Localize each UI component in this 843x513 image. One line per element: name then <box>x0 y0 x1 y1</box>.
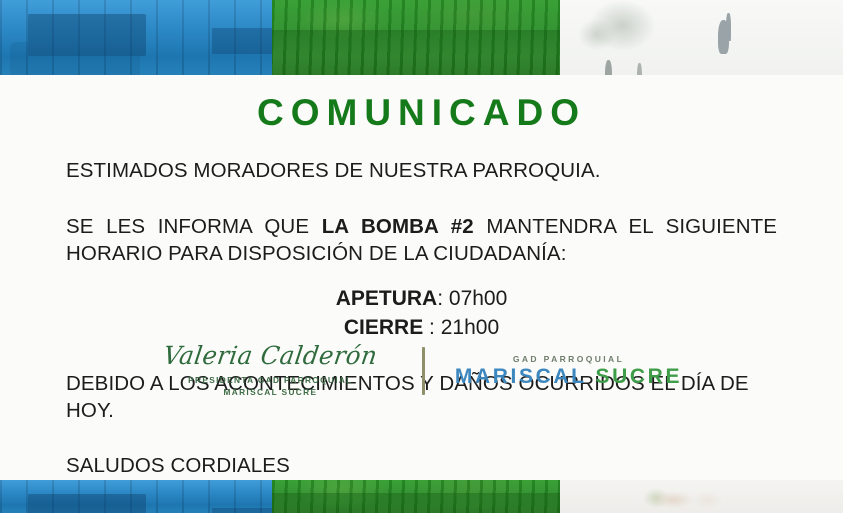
greeting-text: ESTIMADOS MORADORES DE NUESTRA PARROQUIA… <box>66 157 777 184</box>
announcement-text-line2: HORARIO PARA DISPOSICIÓN DE LA CIUDADANÍ… <box>66 240 777 267</box>
signature-row: Valeria Calderón PRESIDENTA GAD PARROQUI… <box>66 343 777 398</box>
closing-label: CIERRE <box>344 316 423 339</box>
opening-time: 07h00 <box>449 287 507 310</box>
signature-block: Valeria Calderón PRESIDENTA GAD PARROQUI… <box>153 343 388 398</box>
header-band-green-photo <box>272 0 560 75</box>
announcement-text-after: MANTENDRA EL SIGUIENTE <box>474 215 777 238</box>
header-band-landscape-photo <box>560 0 843 75</box>
comunicado-poster: COMUNICADO ESTIMADOS MORADORES DE NUESTR… <box>0 0 843 513</box>
logo-word-sucre: SUCRE <box>596 365 683 388</box>
closing-time: 21h00 <box>441 316 499 339</box>
schedule-row-closing: CIERRE : 21h00 <box>66 313 777 343</box>
footer-band-landscape-photo <box>560 480 843 513</box>
signature-role-line2: MARISCAL SUCRE <box>153 386 388 398</box>
header-band-blue-photo <box>0 0 272 75</box>
footer-band-green-photo <box>272 480 560 513</box>
poster-content: COMUNICADO ESTIMADOS MORADORES DE NUESTR… <box>0 75 843 480</box>
logo-word-mariscal: MARISCAL <box>455 365 587 388</box>
gad-logo: GAD PARROQUIAL MARISCALSUCRE <box>451 354 682 387</box>
schedule-list: APETURA: 07h00 CIERRE : 21h00 <box>66 284 777 344</box>
signature-role: PRESIDENTA GAD PARROQUIAL MARISCAL SUCRE <box>153 374 388 398</box>
announcement-paragraph: SE LES INFORMA QUE LA BOMBA #2 MANTENDRA… <box>66 213 777 268</box>
logo-eyebrow: GAD PARROQUIAL <box>455 354 682 364</box>
signature-divider <box>422 347 425 395</box>
announcement-text-before: SE LES INFORMA QUE <box>66 215 322 238</box>
closing-text: SALUDOS CORDIALES <box>66 452 777 479</box>
logo-wordmark: MARISCALSUCRE <box>455 366 682 387</box>
signature-role-line1: PRESIDENTA GAD PARROQUIAL <box>153 374 388 386</box>
footer-photo-strip <box>0 480 843 513</box>
footer-band-blue-photo <box>0 480 272 513</box>
header-photo-strip <box>0 0 843 75</box>
announcement-highlight: LA BOMBA #2 <box>322 215 474 238</box>
page-title: COMUNICADO <box>66 94 777 133</box>
schedule-row-opening: APETURA: 07h00 <box>66 284 777 314</box>
opening-separator: : <box>437 287 443 310</box>
opening-label: APETURA <box>336 287 438 310</box>
closing-separator: : <box>423 316 435 339</box>
signature-name: Valeria Calderón <box>155 343 386 368</box>
